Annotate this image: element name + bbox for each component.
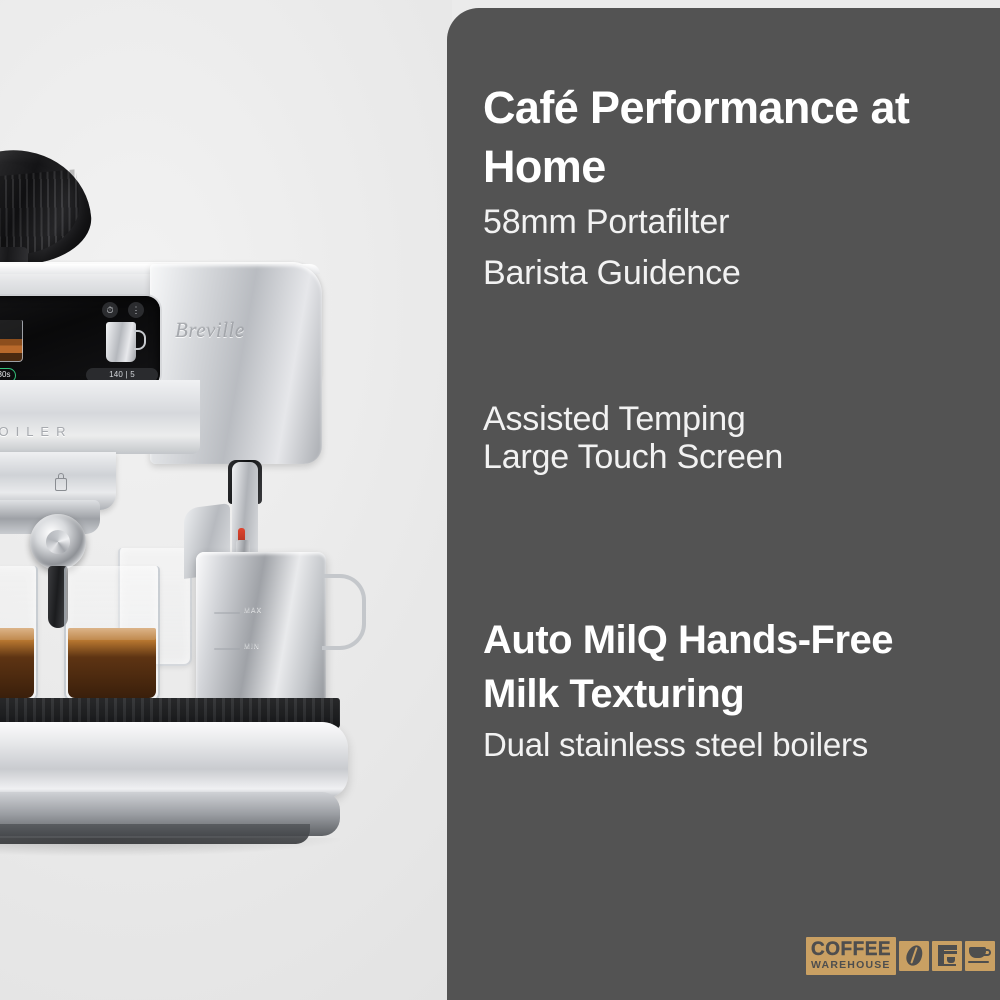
tamper-knob-inner bbox=[46, 530, 70, 554]
lock-icon-body bbox=[55, 478, 67, 491]
milk-jug-body: MAX MIN bbox=[196, 552, 326, 712]
panel-feature-assisted-temping: Assisted Temping bbox=[483, 400, 953, 438]
feature-panel: Café Performance at Home 58mm Portafilte… bbox=[447, 8, 1000, 1000]
coffee-bean-icon bbox=[899, 941, 929, 971]
panel-heading-main: Café Performance at Home bbox=[483, 78, 953, 197]
panel-feature-touch-screen: Large Touch Screen bbox=[483, 438, 953, 476]
jug-min-label: MIN bbox=[244, 643, 260, 650]
breville-brand-emboss: Breville bbox=[175, 318, 293, 344]
machine-base bbox=[0, 722, 348, 798]
product-photo: Breville te ⏱ ⋮ 33 30s 140 | 5 DUAL BOIL… bbox=[0, 0, 452, 1000]
milk-jug-handle bbox=[322, 574, 366, 650]
panel-feature-portafilter: 58mm Portafilter bbox=[483, 197, 953, 248]
logo-wordmark: COFFEE WAREHOUSE bbox=[806, 937, 896, 975]
machine-mid-band bbox=[0, 380, 200, 454]
milk-jug-icon[interactable] bbox=[102, 318, 148, 366]
logo-word-coffee: COFFEE bbox=[811, 941, 891, 959]
crema-right bbox=[68, 628, 156, 640]
jug-max-label: MAX bbox=[244, 607, 262, 614]
espresso-machine-icon bbox=[932, 941, 962, 971]
more-options-icon[interactable]: ⋮ bbox=[128, 302, 144, 318]
feature-block-secondary: Assisted Temping Large Touch Screen bbox=[483, 400, 953, 477]
panel-heading-milq: Auto MilQ Hands-Free Milk Texturing bbox=[483, 613, 963, 721]
feature-block-primary: Café Performance at Home 58mm Portafilte… bbox=[483, 78, 953, 299]
timer-icon[interactable]: ⏱ bbox=[102, 302, 118, 318]
feature-block-tertiary: Auto MilQ Hands-Free Milk Texturing Dual… bbox=[483, 613, 963, 769]
coffee-cup-icon bbox=[965, 941, 995, 971]
espresso-shot-left bbox=[0, 630, 34, 698]
crema-left bbox=[0, 628, 34, 640]
machine-touchscreen[interactable]: te ⏱ ⋮ 33 30s 140 | 5 bbox=[0, 296, 160, 388]
panel-feature-barista-guidence: Barista Guidence bbox=[483, 248, 953, 299]
panel-feature-dual-boilers: Dual stainless steel boilers bbox=[483, 721, 963, 769]
dual-boiler-label: DUAL BOILER bbox=[0, 424, 73, 439]
coffee-warehouse-logo: COFFEE WAREHOUSE bbox=[806, 937, 995, 975]
product-feature-banner: Breville te ⏱ ⋮ 33 30s 140 | 5 DUAL BOIL… bbox=[0, 0, 1000, 1000]
logo-word-warehouse: WAREHOUSE bbox=[811, 960, 891, 972]
espresso-glass-icon[interactable] bbox=[0, 320, 26, 366]
floor-shadow bbox=[0, 838, 340, 856]
espresso-shot-right bbox=[68, 630, 156, 698]
